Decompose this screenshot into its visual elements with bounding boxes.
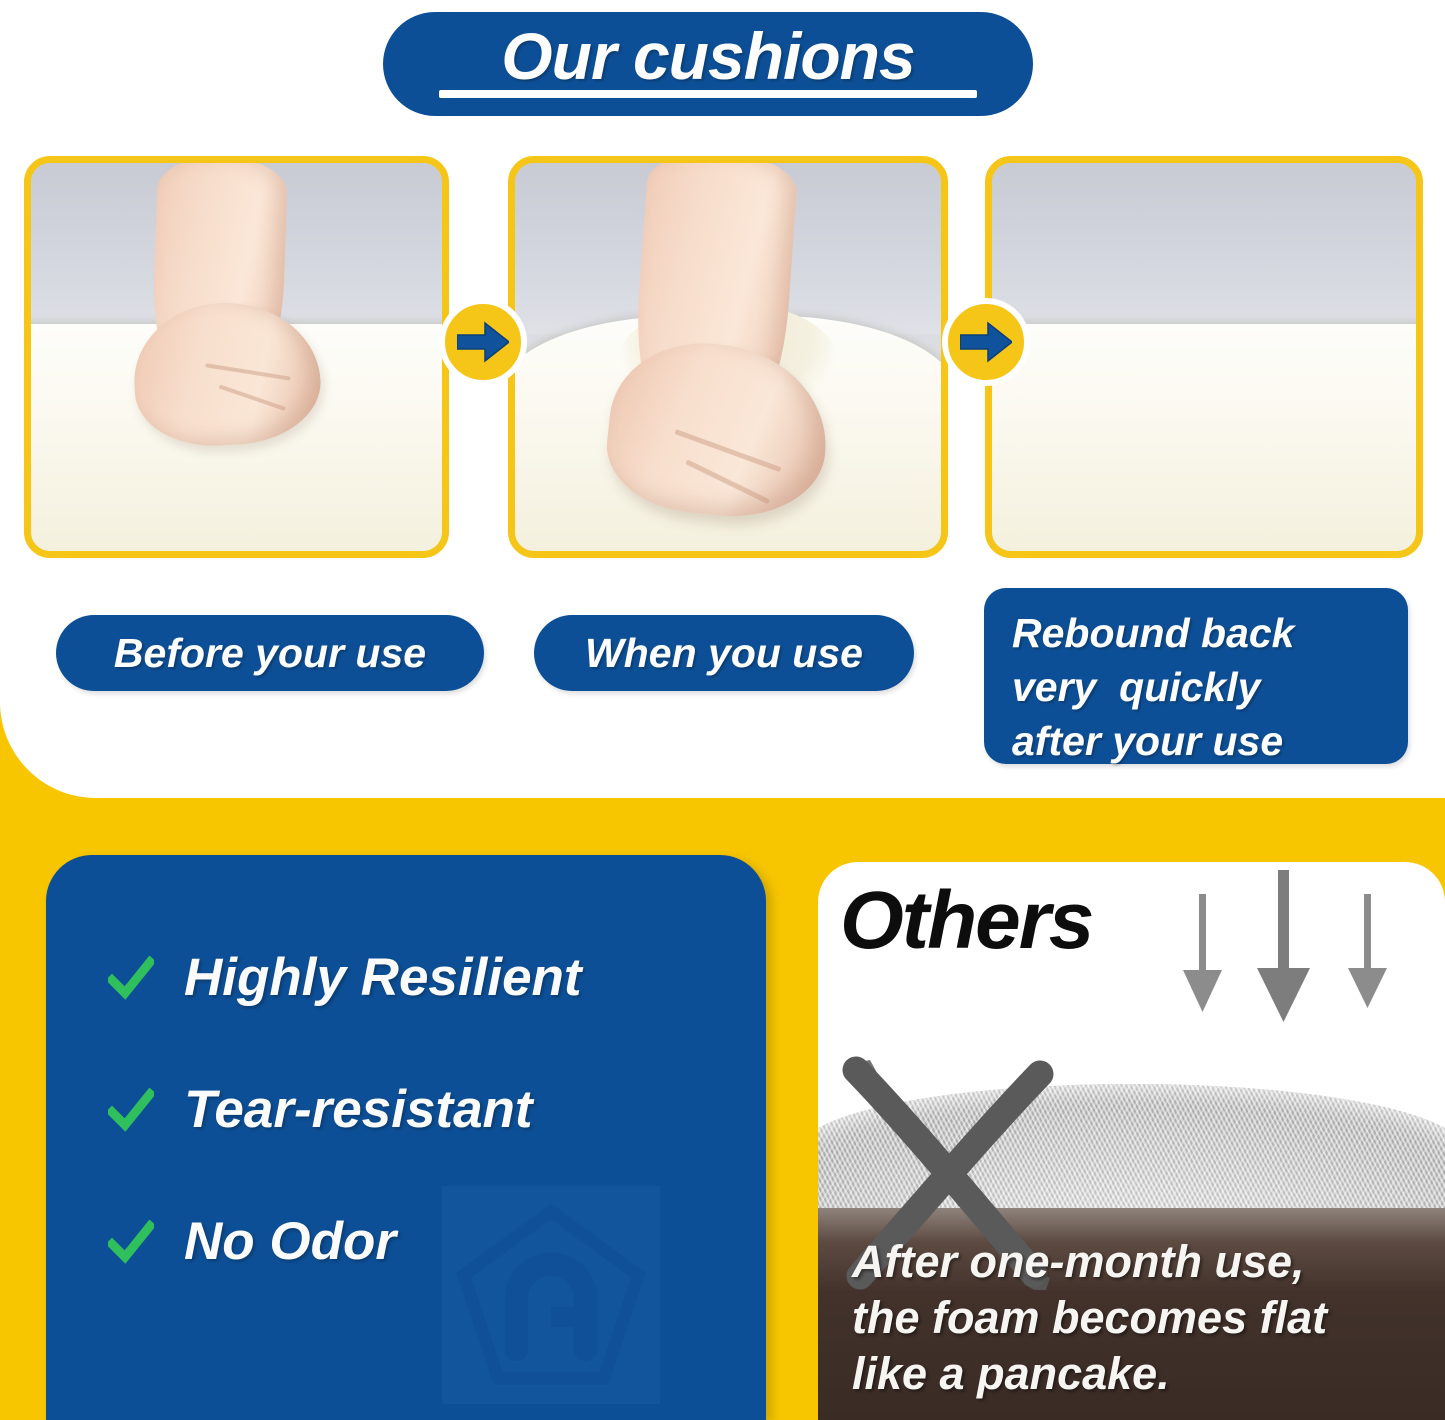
check-icon <box>108 1219 154 1265</box>
knuckle-crease <box>205 363 291 380</box>
step-photo-rebound <box>985 156 1423 558</box>
step-arrow-badge-1 <box>439 298 527 386</box>
caption-line: Rebound back <box>1012 606 1408 660</box>
arrow-right-icon <box>960 320 1012 364</box>
down-arrows-icon <box>1161 870 1411 1040</box>
feature-item: Highly Resilient <box>108 947 582 1008</box>
others-title: Others <box>840 874 1092 968</box>
title-underline <box>439 90 977 98</box>
step-arrow-badge-2 <box>942 298 1030 386</box>
knuckle-crease <box>685 459 770 504</box>
photo-backdrop <box>992 163 1416 334</box>
feature-item: No Odor <box>108 1211 396 1272</box>
foam-slab-rebounded <box>985 324 1423 557</box>
step-caption-before: Before your use <box>56 615 484 691</box>
pentagon-a-logo-watermark <box>442 1186 660 1404</box>
step-caption-rebound: Rebound back very quickly after your use <box>984 588 1408 764</box>
others-comparison-card: Others <box>818 862 1445 1420</box>
feature-item: Tear-resistant <box>108 1079 533 1140</box>
caption-line: After one-month use, <box>852 1234 1327 1290</box>
arrow-right-icon <box>457 320 509 364</box>
page-title: Our cushions <box>383 18 1033 94</box>
feature-label: No Odor <box>184 1211 396 1272</box>
caption-line: after your use <box>1012 714 1408 768</box>
check-icon <box>108 1087 154 1133</box>
step-caption-when: When you use <box>534 615 914 691</box>
feature-label: Tear-resistant <box>184 1079 533 1140</box>
top-white-section: Our cushions <box>0 0 1445 798</box>
page-title-pill: Our cushions <box>383 12 1033 116</box>
check-icon <box>108 955 154 1001</box>
step-photo-when <box>508 156 948 558</box>
product-infographic-poster: Our cushions <box>0 0 1445 1420</box>
others-caption: After one-month use, the foam becomes fl… <box>852 1234 1327 1402</box>
step-photo-before <box>24 156 449 558</box>
caption-line: very quickly <box>1012 660 1408 714</box>
caption-line: the foam becomes flat <box>852 1290 1327 1346</box>
knuckle-crease <box>218 384 285 411</box>
caption-line: like a pancake. <box>852 1346 1327 1402</box>
feature-label: Highly Resilient <box>184 947 582 1008</box>
